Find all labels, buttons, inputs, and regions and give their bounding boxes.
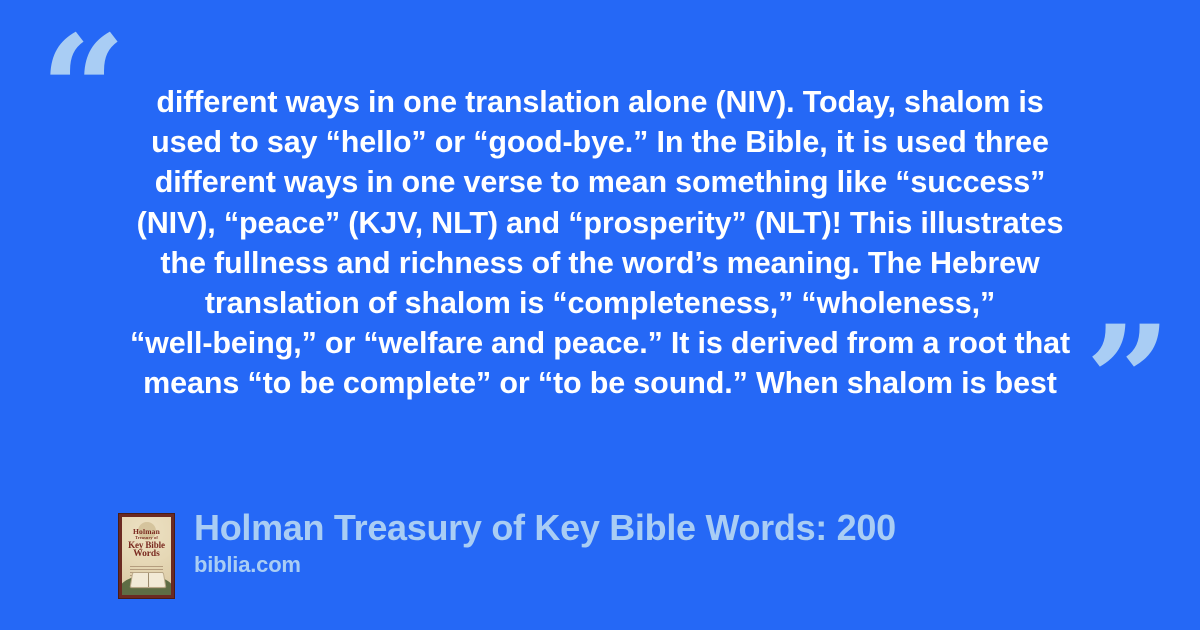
quote-text: different ways in one translation alone … xyxy=(100,82,1100,404)
book-cover-art: Holman Treasury of Key Bible Words xyxy=(122,517,171,595)
attribution-footer: Holman Treasury of Key Bible Words Holma… xyxy=(118,506,896,599)
source-site: biblia.com xyxy=(194,552,896,578)
close-quote-mark: ” xyxy=(1085,306,1171,456)
book-cover-title-line-4: Words xyxy=(122,550,171,560)
book-cover-thumbnail: Holman Treasury of Key Bible Words xyxy=(118,513,175,599)
book-cover-title: Holman Treasury of Key Bible Words xyxy=(122,528,171,560)
open-book-icon xyxy=(130,572,167,588)
source-title: Holman Treasury of Key Bible Words: 200 xyxy=(194,506,896,550)
quote-card: “ different ways in one translation alon… xyxy=(0,0,1200,630)
attribution-text-block: Holman Treasury of Key Bible Words: 200 … xyxy=(194,506,896,578)
